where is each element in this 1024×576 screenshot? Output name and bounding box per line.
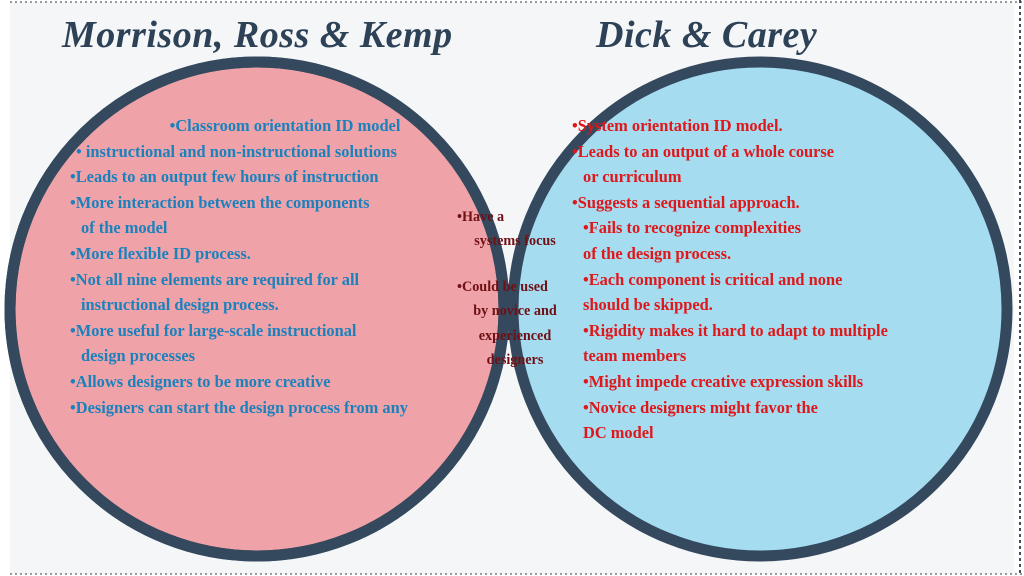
left-bullet-item: •More interaction between the components <box>70 190 500 216</box>
left-bullet-item: instructional design process. <box>70 292 500 318</box>
right-bullet-item: •Fails to recognize complexities <box>572 215 992 241</box>
left-bullet-list: •Classroom orientation ID model • instru… <box>70 113 500 420</box>
overlap-bullet-item: systems focus <box>455 229 575 253</box>
left-bullet-item: •More flexible ID process. <box>70 241 500 267</box>
overlap-bullet-list: •Have a systems focus •Could be used by … <box>455 205 575 373</box>
left-bullet-item: •Leads to an output few hours of instruc… <box>70 164 500 190</box>
overlap-bullet-item: designers <box>455 348 575 372</box>
overlap-bullet-item: •Could be used <box>455 275 575 299</box>
overlap-bullet-item: by novice and <box>455 299 575 323</box>
overlap-bullet-group: •Have a systems focus <box>455 205 575 254</box>
right-bullet-item: should be skipped. <box>572 292 992 318</box>
left-bullet-item: •Classroom orientation ID model <box>70 113 500 139</box>
left-bullet-item: •Not all nine elements are required for … <box>70 267 500 293</box>
left-bullet-item: •Allows designers to be more creative <box>70 369 500 395</box>
overlap-bullet-item: experienced <box>455 324 575 348</box>
right-bullet-item: or curriculum <box>572 164 992 190</box>
right-set-title: Dick & Carey <box>596 13 817 57</box>
slide-canvas: Morrison, Ross & Kemp Dick & Carey •Clas… <box>0 0 1024 576</box>
right-bullet-item: •Each component is critical and none <box>572 267 992 293</box>
right-bullet-item: •Might impede creative expression skills <box>572 369 992 395</box>
right-bullet-item: •Suggests a sequential approach. <box>572 190 992 216</box>
left-bullet-item: •Designers can start the design process … <box>70 395 500 421</box>
left-bullet-item: of the model <box>70 215 500 241</box>
right-bullet-item: •System orientation ID model. <box>572 113 992 139</box>
left-bullet-item: •More useful for large-scale instruction… <box>70 318 500 344</box>
right-bullet-list: •System orientation ID model. •Leads to … <box>572 113 992 446</box>
right-bullet-item: •Novice designers might favor the <box>572 395 992 421</box>
right-bullet-item: •Rigidity makes it hard to adapt to mult… <box>572 318 992 344</box>
left-bullet-item: design processes <box>70 343 500 369</box>
right-bullet-item: DC model <box>572 420 992 446</box>
left-set-title: Morrison, Ross & Kemp <box>62 13 453 57</box>
right-bullet-item: of the design process. <box>572 241 992 267</box>
left-bullet-item: • instructional and non-instructional so… <box>70 139 500 165</box>
right-bullet-item: team members <box>572 343 992 369</box>
overlap-bullet-group: •Could be used by novice and experienced… <box>455 275 575 373</box>
overlap-bullet-item: •Have a <box>455 205 575 229</box>
right-bullet-item: •Leads to an output of a whole course <box>572 139 992 165</box>
